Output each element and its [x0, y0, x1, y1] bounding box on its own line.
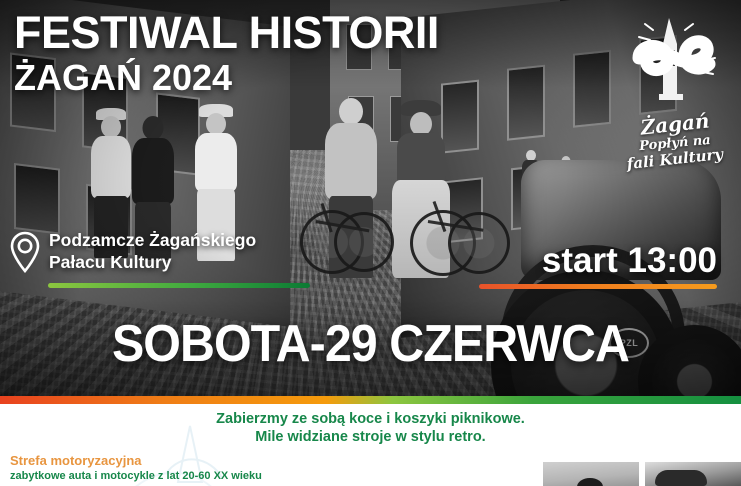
map-pin-icon — [10, 231, 40, 278]
moto-zone-subtitle: zabytkowe auta i motocykle z lat 20-60 X… — [10, 470, 262, 483]
location-block: Podzamcze Żagańskiego Pałacu Kultury — [10, 230, 256, 278]
zagan-culture-logo: Żagań Popłyń na fali Kultury — [623, 14, 727, 194]
invite-line-2: Mile widziane stroje w stylu retro. — [0, 428, 741, 446]
date-banner: SOBOTA-29 CZERWCA — [0, 318, 741, 370]
poster-subtitle: ŻAGAŃ 2024 — [14, 59, 439, 97]
poster-title: FESTIWAL HISTORII — [14, 10, 439, 55]
thumbnail-photo — [645, 462, 741, 486]
logo-tower-icon — [623, 14, 727, 114]
festival-poster: PZL FESTIWAL HISTORII ŻAGAŃ 2024 Żagań P — [0, 0, 741, 486]
start-time-label: start 13:00 — [479, 243, 717, 278]
location-line-2: Pałacu Kultury — [49, 252, 256, 274]
start-time-underline — [479, 284, 717, 289]
moto-zone-block: Strefa motoryzacyjna zabytkowe auta i mo… — [10, 454, 262, 483]
location-line-1: Podzamcze Żagańskiego — [49, 230, 256, 252]
poster-title-block: FESTIWAL HISTORII ŻAGAŃ 2024 — [14, 10, 439, 97]
start-time-block: start 13:00 — [479, 243, 717, 289]
moto-zone-title: Strefa motoryzacyjna — [10, 454, 262, 469]
date-label: SOBOTA-29 CZERWCA — [26, 318, 715, 370]
color-divider-bar — [0, 396, 741, 404]
location-underline — [48, 283, 310, 288]
location-text: Podzamcze Żagańskiego Pałacu Kultury — [49, 230, 256, 274]
bottom-info-strip: Zabierzmy ze sobą koce i koszyki pikniko… — [0, 404, 741, 486]
invite-text: Zabierzmy ze sobą koce i koszyki pikniko… — [0, 410, 741, 446]
invite-line-1: Zabierzmy ze sobą koce i koszyki pikniko… — [0, 410, 741, 428]
thumbnail-photo — [543, 462, 639, 486]
photo-thumbnails — [543, 462, 741, 486]
